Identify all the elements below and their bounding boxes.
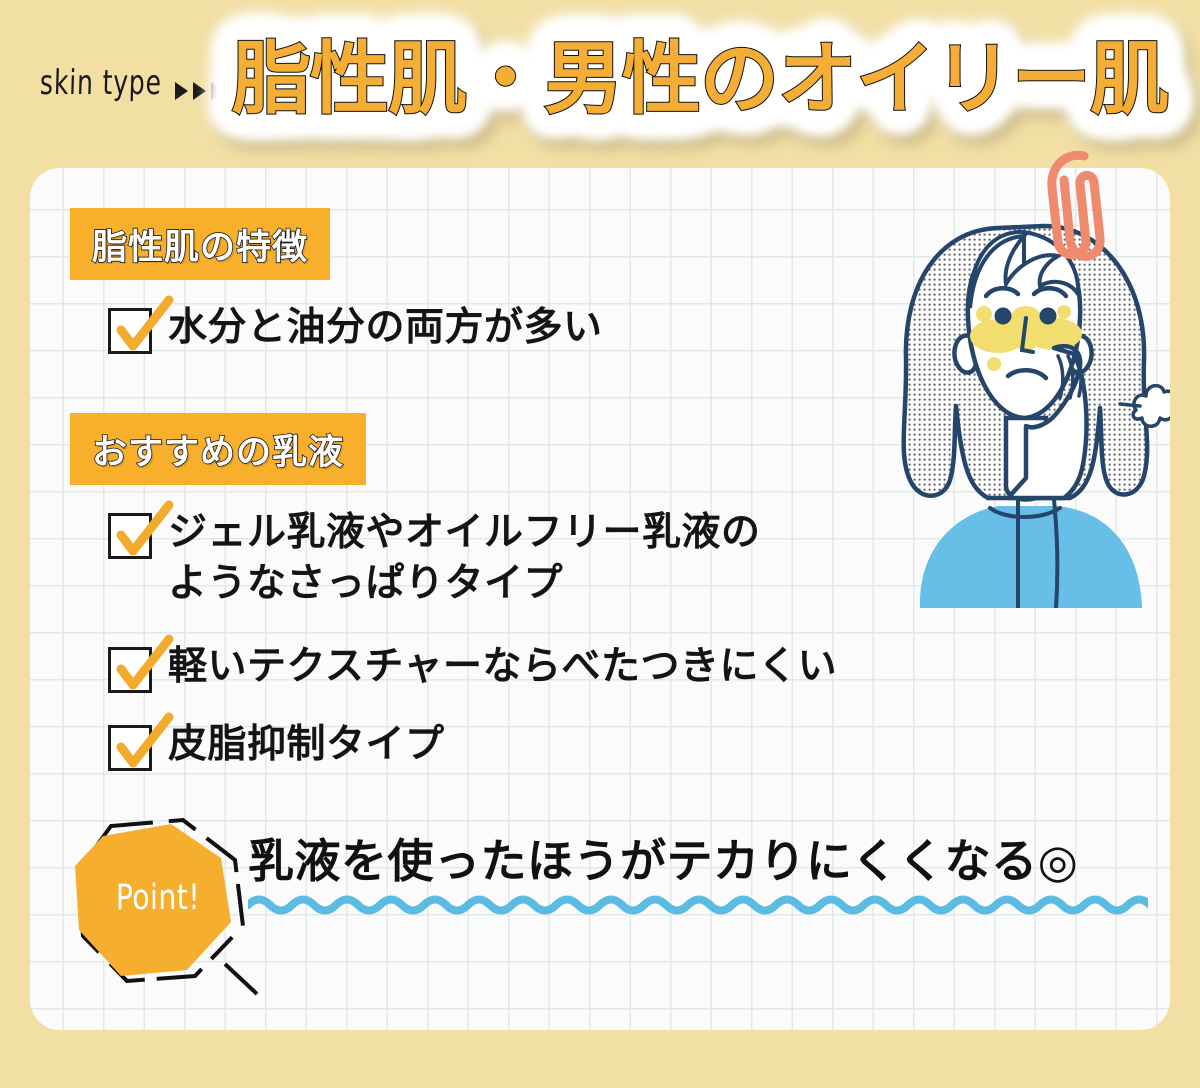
triangle-right-icon	[193, 82, 206, 100]
check-item[interactable]: 軽いテクスチャーならべたつきにくい	[108, 642, 837, 693]
triangle-right-icon	[175, 82, 188, 100]
wavy-underline-icon	[248, 893, 1148, 915]
triangle-right-icon	[211, 82, 224, 100]
point-badge: Point!	[75, 818, 275, 993]
check-item-text: 水分と油分の両方が多い	[168, 303, 603, 354]
page-title: 脂性肌・男性のオイリー肌	[232, 34, 1168, 125]
arrow-triples-icon	[175, 82, 224, 100]
section-label-features: 脂性肌の特徴	[70, 208, 330, 280]
checkbox-checked-icon[interactable]	[108, 308, 152, 354]
section-label-recommended: おすすめの乳液	[70, 413, 366, 485]
checkbox-checked-icon[interactable]	[108, 647, 152, 693]
section-label-text: おすすめの乳液	[92, 424, 344, 475]
point-badge-label: Point!	[83, 818, 232, 978]
check-item-text: 皮脂抑制タイプ	[168, 720, 445, 771]
paperclip-icon	[1022, 140, 1142, 270]
checkbox-checked-icon[interactable]	[108, 725, 152, 771]
checkbox-checked-icon[interactable]	[108, 513, 152, 559]
eyebrow-label: skin type	[39, 63, 162, 103]
content-card: 脂性肌の特徴 水分と油分の両方が多い おすすめの乳液 ジェル乳液やオイルフリー乳…	[30, 168, 1170, 1030]
check-item-text: ジェル乳液やオイルフリー乳液の ようなさっぱりタイプ	[168, 508, 761, 609]
point-sentence: 乳液を使ったほうがテカりにくくなる◎	[248, 836, 1148, 915]
point-sentence-text: 乳液を使ったほうがテカりにくくなる◎	[248, 836, 1148, 887]
check-item[interactable]: 皮脂抑制タイプ	[108, 720, 445, 771]
check-item-text: 軽いテクスチャーならべたつきにくい	[168, 642, 837, 693]
check-item[interactable]: 水分と油分の両方が多い	[108, 303, 603, 354]
page-header: skin type 脂性肌・男性のオイリー肌	[0, 0, 1200, 168]
section-label-text: 脂性肌の特徴	[92, 219, 308, 270]
check-item[interactable]: ジェル乳液やオイルフリー乳液の ようなさっぱりタイプ	[108, 508, 761, 609]
